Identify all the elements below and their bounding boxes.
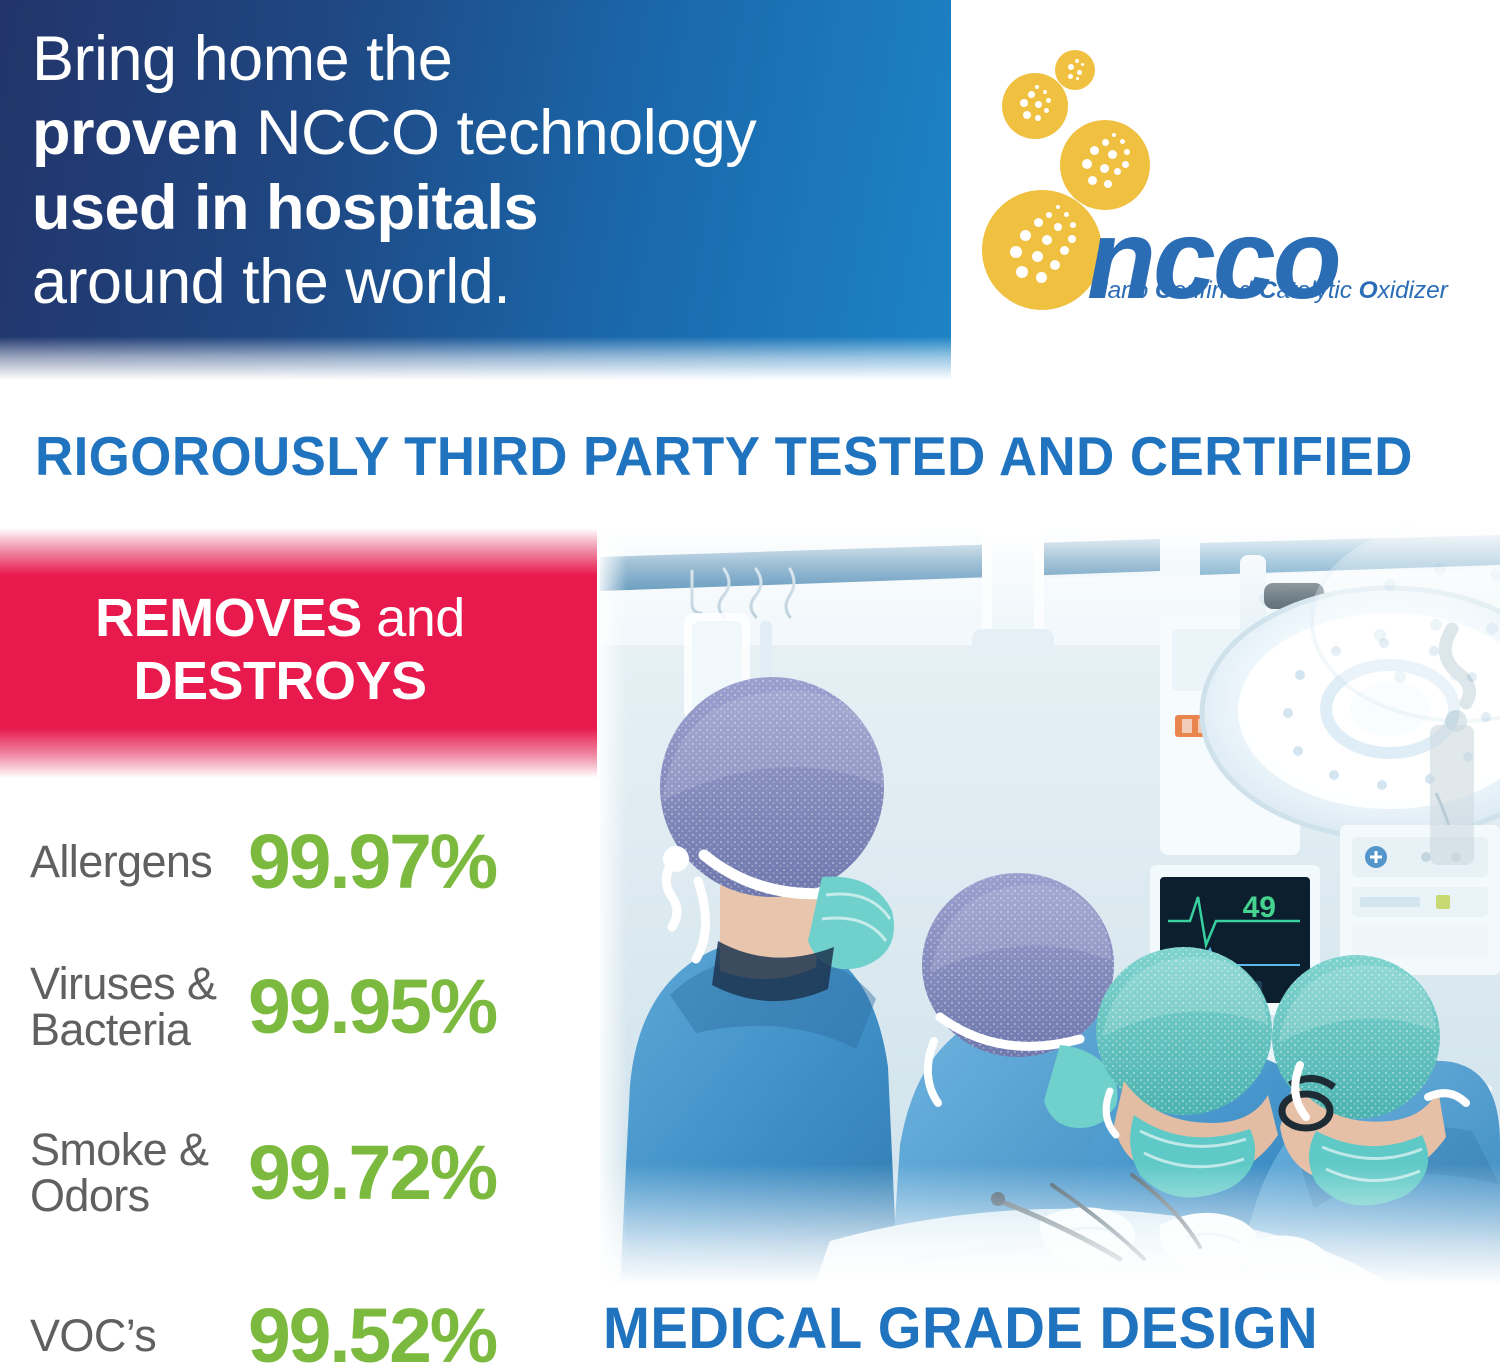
- ncco-logo: ncco Nano Confined Catalytic Oxidizer: [980, 35, 1480, 325]
- operating-room-illustration: 49: [600, 525, 1500, 1285]
- surgery-scene-svg: 49: [600, 525, 1500, 1285]
- removes-destroys-text: REMOVES and DESTROYS: [0, 587, 560, 712]
- stat-label: Smoke & Odors: [30, 1127, 248, 1220]
- stat-value: 99.72%: [248, 1135, 590, 1212]
- tagline-n: N: [1090, 277, 1108, 304]
- stat-label: Allergens: [30, 839, 248, 885]
- destroys-word: DESTROYS: [0, 650, 560, 713]
- tagline-xidizer: xidizer: [1378, 277, 1448, 304]
- stat-value: 99.95%: [248, 969, 590, 1046]
- stat-label: VOC’s: [30, 1313, 248, 1359]
- tagline-c2: C: [1259, 277, 1277, 304]
- hero-line-2: proven NCCO technology: [32, 96, 922, 170]
- removes-destroys-banner: REMOVES and DESTROYS: [0, 528, 597, 778]
- hero-line-3: used in hospitals: [32, 171, 922, 245]
- operating-room-photo: 49: [600, 525, 1500, 1285]
- tagline-atalytic: atalytic: [1276, 277, 1358, 304]
- removes-word: REMOVES: [95, 588, 362, 648]
- medical-grade-headline: MEDICAL GRADE DESIGN: [603, 1295, 1476, 1362]
- infographic-page: Bring home the proven NCCO technology us…: [0, 0, 1500, 1369]
- stat-label: Viruses & Bacteria: [30, 961, 248, 1054]
- hero-headline: Bring home the proven NCCO technology us…: [32, 22, 922, 319]
- tagline-c1: C: [1155, 277, 1173, 304]
- bubble-icon-small: [1055, 50, 1095, 90]
- hero-line-1: Bring home the: [32, 22, 922, 96]
- bubble-icon-medium: [1002, 73, 1068, 139]
- hero-line-2-rest: NCCO technology: [239, 98, 756, 168]
- ncco-tagline: Nano Confined Catalytic Oxidizer: [1090, 277, 1448, 305]
- removes-line: REMOVES and: [0, 587, 560, 650]
- svg-text:49: 49: [1243, 891, 1276, 924]
- bubble-icon-xlarge: [982, 190, 1102, 310]
- tagline-o: O: [1359, 277, 1378, 304]
- hero-line-2-bold: proven: [32, 98, 239, 168]
- stat-row-allergens: Allergens 99.97%: [30, 814, 590, 910]
- stat-value: 99.97%: [248, 824, 590, 901]
- stat-row-viruses-bacteria: Viruses & Bacteria 99.95%: [30, 952, 590, 1062]
- certification-headline: RIGOROUSLY THIRD PARTY TESTED AND CERTIF…: [35, 424, 1417, 488]
- stat-row-vocs: VOC’s 99.52%: [30, 1288, 590, 1369]
- hero-banner: Bring home the proven NCCO technology us…: [0, 0, 951, 380]
- stat-value: 99.52%: [248, 1298, 590, 1369]
- tagline-onfined: onfined: [1172, 277, 1258, 304]
- tagline-ano: ano: [1108, 277, 1155, 304]
- and-word: and: [362, 588, 465, 648]
- hero-line-4: around the world.: [32, 245, 922, 319]
- stat-row-smoke-odors: Smoke & Odors 99.72%: [30, 1118, 590, 1228]
